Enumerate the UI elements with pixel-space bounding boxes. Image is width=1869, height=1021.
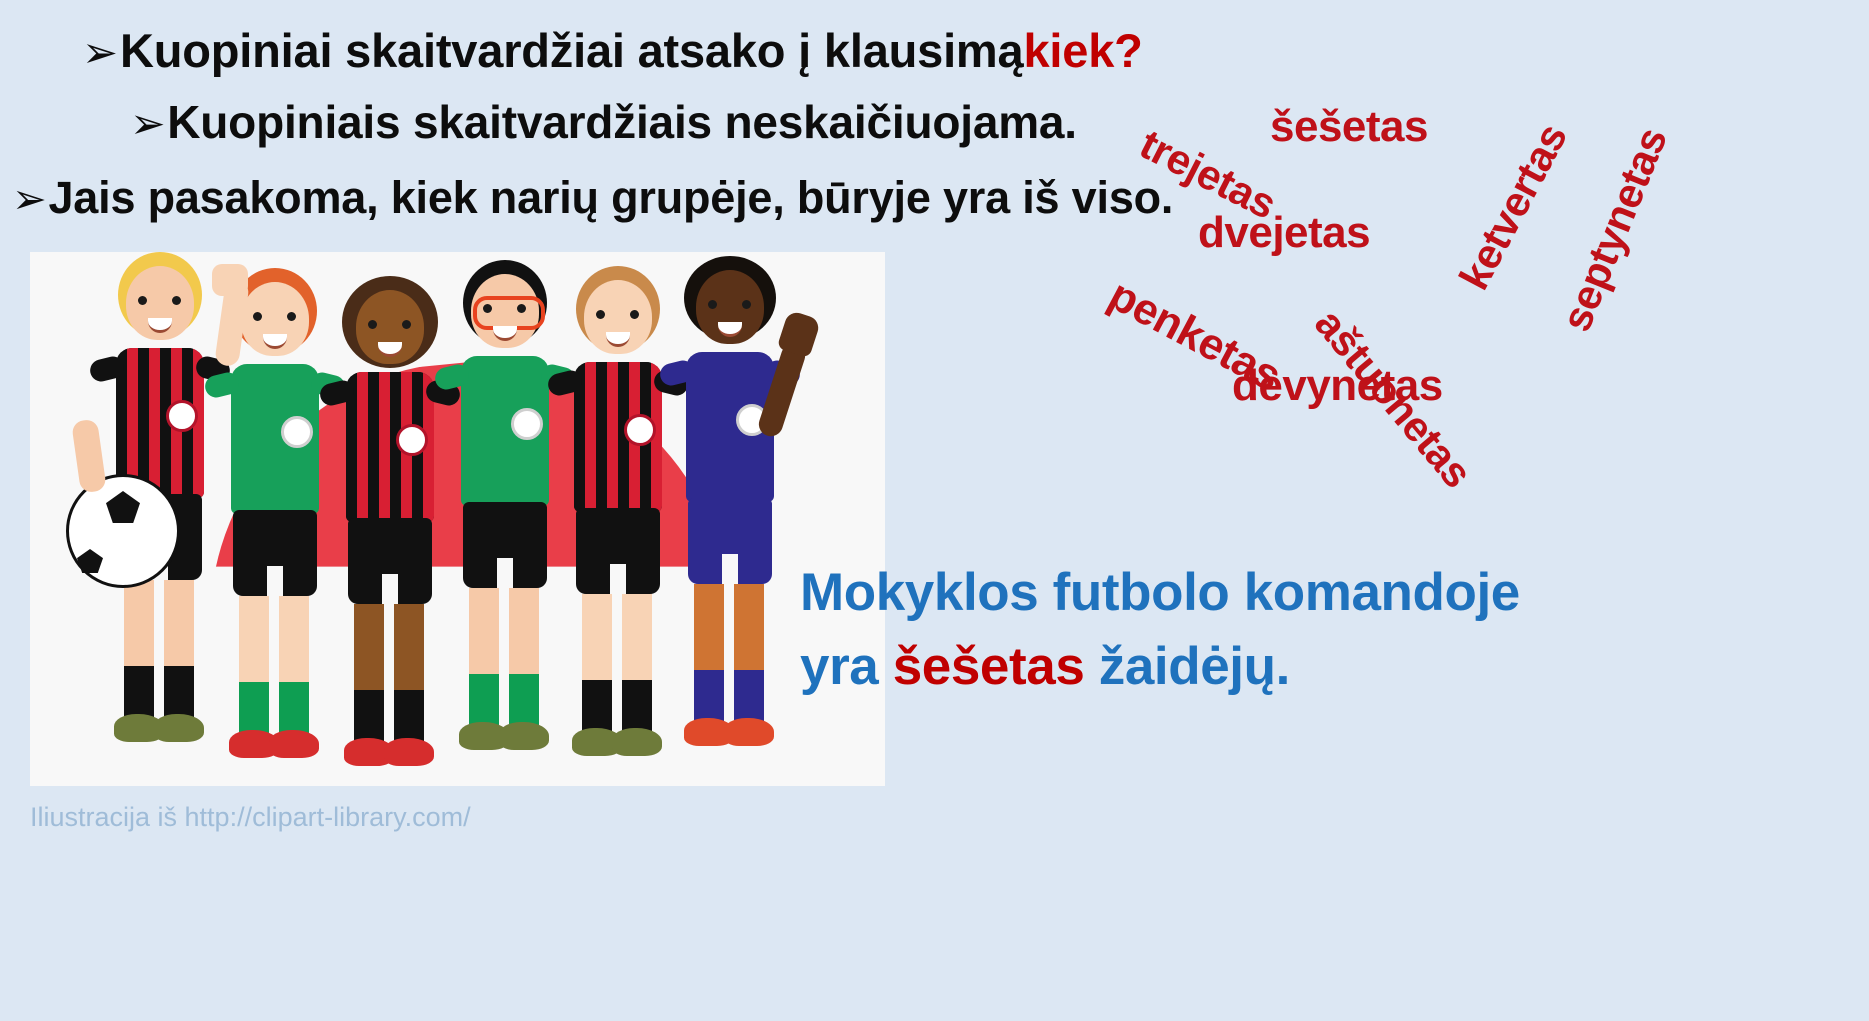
team-badge-icon [281,416,313,448]
sock-shape [622,680,652,732]
leg-shape [582,594,612,680]
sock-shape [394,690,424,742]
leg-shape [509,588,539,674]
eye-shape [742,300,751,309]
eye-shape [368,320,377,329]
caption-block: Mokyklos futbolo komandoje yra šešetas ž… [800,556,1860,704]
team-badge-icon [166,400,198,432]
sock-shape [734,670,764,722]
leg-shape [239,596,269,682]
bullet-text-1: Kuopiniai skaitvardžiai atsako į klausim… [120,18,1023,84]
word-cloud-item: šešetas [1270,102,1428,152]
leg-shape [694,584,724,670]
leg-shape [734,584,764,670]
bullet-emphasis-1: kiek? [1023,18,1142,84]
sock-shape [469,674,499,726]
shorts-notch [382,574,398,604]
word-cloud-item: devynetas [1232,361,1443,411]
team-badge-icon [511,408,543,440]
bullet-arrow-icon: ➢ [12,179,46,220]
sock-shape [582,680,612,732]
child-figure [445,260,565,752]
sock-shape [694,670,724,722]
shoe-shape [612,728,662,756]
eye-shape [708,300,717,309]
eye-shape [138,296,147,305]
bullet-item-1: ➢ Kuopiniai skaitvardžiai atsako į klaus… [0,18,1200,84]
bullet-text-3: Jais pasakoma, kiek narių grupėje, būryj… [48,160,1173,236]
jersey-shape [231,364,319,514]
jersey-shape [574,362,662,512]
bullet-arrow-icon: ➢ [130,103,165,145]
leg-shape [124,580,154,666]
child-figure [558,266,678,752]
sock-shape [239,682,269,734]
eye-shape [172,296,181,305]
shoe-shape [384,738,434,766]
football-icon [66,474,180,588]
eye-shape [287,312,296,321]
glasses-icon [473,296,545,330]
shoe-shape [724,718,774,746]
caption-prefix: yra [800,637,893,696]
leg-shape [279,596,309,682]
sock-shape [124,666,154,718]
bullet-list: ➢ Kuopiniai skaitvardžiai atsako į klaus… [0,18,1200,236]
fist-shape [212,264,248,296]
child-figure [670,256,790,752]
leg-shape [354,604,384,690]
illustration-panel [30,252,885,786]
eye-shape [402,320,411,329]
sock-shape [279,682,309,734]
team-badge-icon [624,414,656,446]
child-figure [330,276,450,752]
sock-shape [509,674,539,726]
caption-line-1: Mokyklos futbolo komandoje [800,556,1860,630]
leg-shape [622,594,652,680]
jersey-shape [346,372,434,522]
shorts-notch [497,558,513,588]
caption-suffix: žaidėjų. [1084,637,1290,696]
leg-shape [164,580,194,666]
jersey-shape [461,356,549,506]
word-cloud: šešetastrejetasketvertasseptynetasdvejet… [1120,80,1869,420]
shorts-notch [722,554,738,584]
shoe-shape [499,722,549,750]
leg-shape [469,588,499,674]
eye-shape [253,312,262,321]
bullet-item-3: ➢ Jais pasakoma, kiek narių grupėje, būr… [0,160,1200,236]
image-credit: Iliustracija iš http://clipart-library.c… [30,802,471,833]
eye-shape [630,310,639,319]
word-cloud-item: septynetas [1552,121,1677,338]
bullet-item-2: ➢ Kuopiniais skaitvardžiais neskaičiuoja… [0,84,1200,160]
word-cloud-item: ketvertas [1450,116,1577,297]
bullet-text-2: Kuopiniais skaitvardžiais neskaičiuojama… [167,84,1077,160]
caption-line-2: yra šešetas žaidėjų. [800,630,1860,704]
sock-shape [164,666,194,718]
shoe-shape [269,730,319,758]
shorts-notch [267,566,283,596]
shorts-notch [610,564,626,594]
team-badge-icon [396,424,428,456]
sock-shape [354,690,384,742]
shoe-shape [154,714,204,742]
leg-shape [394,604,424,690]
word-cloud-item: dvejetas [1198,208,1370,258]
slide-canvas: ➢ Kuopiniai skaitvardžiai atsako į klaus… [0,0,1869,1021]
eye-shape [596,310,605,319]
bullet-arrow-icon: ➢ [82,32,118,75]
caption-highlight: šešetas [893,637,1085,696]
